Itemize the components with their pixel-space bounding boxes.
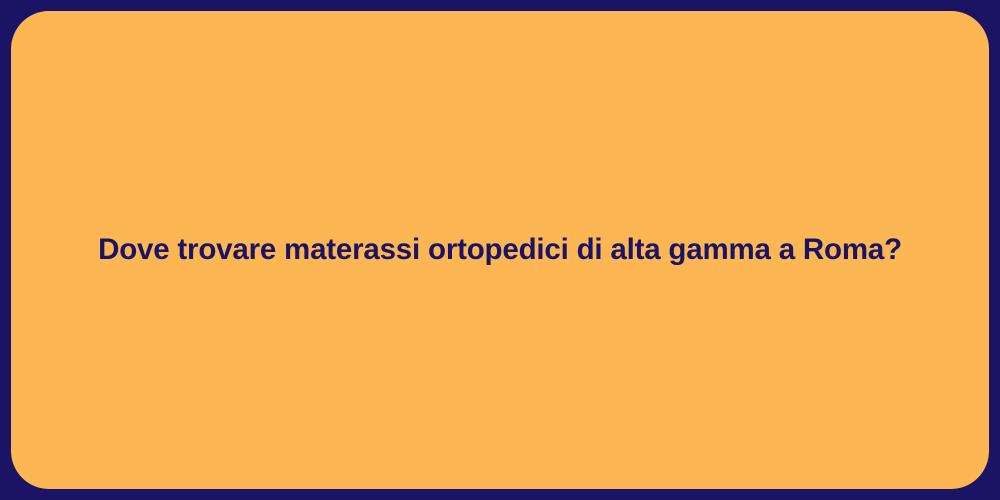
- banner-panel: Dove trovare materassi ortopedici di alt…: [11, 11, 989, 489]
- banner-frame: Dove trovare materassi ortopedici di alt…: [0, 0, 1000, 500]
- headline-text: Dove trovare materassi ortopedici di alt…: [98, 232, 902, 269]
